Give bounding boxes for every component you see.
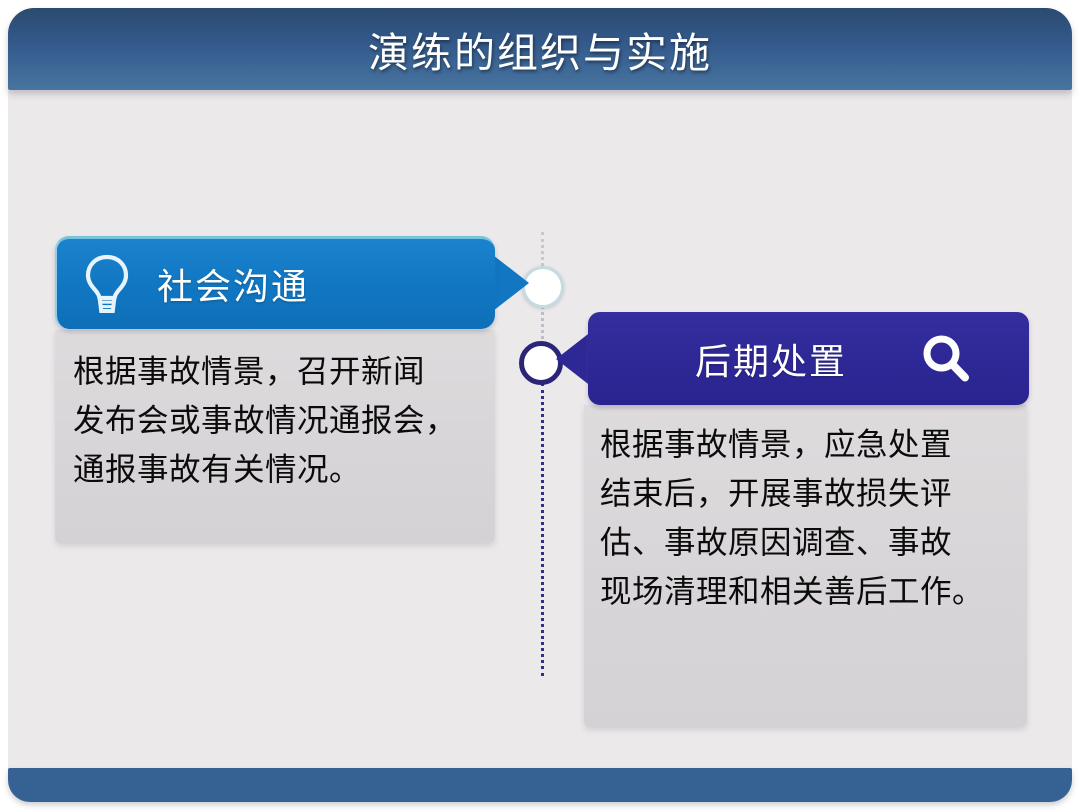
card-header-label-post-incident-handling: 后期处置	[695, 333, 847, 385]
search-icon	[919, 332, 973, 386]
card-text-social-communication: 根据事故情景，召开新闻 发布会或事故情况通报会， 通报事故有关情况。	[73, 347, 493, 494]
slide-header-banner: 演练的组织与实施	[8, 8, 1072, 90]
card-text-post-incident-handling: 根据事故情景，应急处置 结束后，开展事故损失评 估、事故原因调查、事故 现场清理…	[600, 420, 1025, 616]
card-pointer-left-icon	[556, 331, 592, 387]
card-header-social-communication[interactable]: 社会沟通	[55, 236, 495, 329]
lightbulb-icon	[83, 253, 131, 315]
card-header-post-incident-handling[interactable]: 后期处置	[588, 312, 1029, 405]
page-title: 演练的组织与实施	[368, 19, 712, 79]
slide-footer-bar	[8, 768, 1072, 802]
timeline-segment-bottom	[541, 383, 544, 676]
card-header-label-social-communication: 社会沟通	[157, 258, 309, 310]
card-pointer-right-icon	[493, 255, 529, 311]
slide-canvas: 演练的组织与实施 社会沟通 根据事故情景，召开新闻 发布会或事故情况通报会， 通…	[0, 0, 1080, 810]
